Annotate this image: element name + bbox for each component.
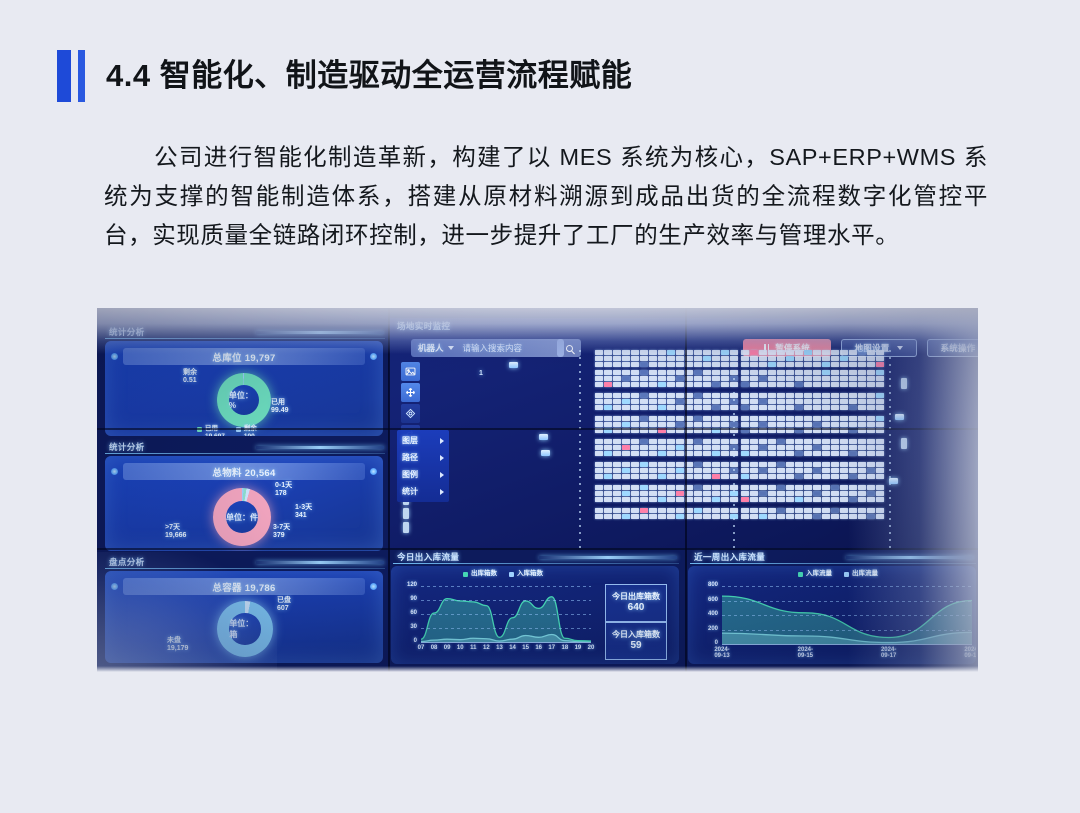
rack-cell <box>721 422 729 427</box>
card-stocktake: 总容器 19,786 单位：箱 已盘 607 未盘 19,179 <box>105 571 383 663</box>
aisle-dot <box>733 518 735 520</box>
map-context-menu: 图层 路径 图例 统计 <box>397 430 449 502</box>
rack-cell <box>649 451 657 456</box>
agv-marker[interactable] <box>539 434 548 440</box>
rack-cell <box>667 356 675 361</box>
rack-cell <box>703 350 711 355</box>
rack-cell <box>703 399 711 404</box>
rack-cell <box>712 474 720 479</box>
rack-cell <box>721 376 729 381</box>
rack-cell <box>676 474 684 479</box>
rack-cell <box>649 362 657 367</box>
aisle-dots <box>579 350 581 548</box>
y-tick-label: 60 <box>393 610 417 616</box>
rack-cell <box>849 370 857 375</box>
chevron-right-icon <box>440 438 444 444</box>
rack-cell <box>721 445 729 450</box>
donut-label-uncounted: 未盘 19,179 <box>167 637 188 653</box>
panel-title-material: 统计分析 <box>109 441 145 453</box>
aisle-dot <box>733 371 735 373</box>
rack-cell <box>849 399 857 404</box>
rack-cell <box>631 462 639 467</box>
rack-cell <box>595 416 603 421</box>
rack-cell <box>640 514 648 519</box>
image-icon[interactable] <box>401 362 420 381</box>
rack-cell <box>759 445 767 450</box>
rack-cell <box>831 350 839 355</box>
rack-cell <box>795 405 803 410</box>
rack-cell <box>741 362 749 367</box>
target-icon[interactable] <box>401 404 420 423</box>
rack-cell <box>813 468 821 473</box>
donut-stocktake: 单位：箱 <box>217 601 273 657</box>
donut-label-1-3day: 1-3天 341 <box>295 504 312 520</box>
rack-cell <box>667 445 675 450</box>
rack-cell <box>741 382 749 387</box>
rack-cell <box>777 497 785 502</box>
rack-cell <box>822 356 830 361</box>
rack-cell <box>876 497 884 502</box>
rack-cell <box>876 508 884 513</box>
rack-cell <box>595 514 603 519</box>
rack-cell <box>786 468 794 473</box>
aisle-dot <box>733 462 735 464</box>
panel-week-flow: 近一周出入库流量 入库流量 出库流量 <box>686 551 978 666</box>
chart-legend-today: 出库箱数 入库箱数 <box>463 570 543 578</box>
rack-cell <box>813 350 821 355</box>
rack-cell <box>822 445 830 450</box>
rack-cell <box>649 474 657 479</box>
aisle-dot <box>889 532 891 534</box>
rack-cell <box>595 393 603 398</box>
rack-cell <box>849 445 857 450</box>
rack-cell <box>858 362 866 367</box>
rack-cell <box>768 497 776 502</box>
rack-cell <box>604 399 612 404</box>
rack-cell <box>649 399 657 404</box>
rack-cell <box>831 514 839 519</box>
rack-cell <box>658 416 666 421</box>
rack-cell <box>795 485 803 490</box>
rack-cell <box>595 485 603 490</box>
rack-cell <box>876 439 884 444</box>
rack-cell <box>795 399 803 404</box>
rack-cell <box>712 393 720 398</box>
rack-cell <box>777 416 785 421</box>
rack-cell <box>604 462 612 467</box>
rack-cell <box>786 439 794 444</box>
rack-cell <box>822 439 830 444</box>
agv-marker[interactable] <box>509 362 518 368</box>
rack-cell <box>658 376 666 381</box>
rack-cell <box>741 485 749 490</box>
x-axis-line <box>421 642 591 643</box>
rack-cell <box>777 451 785 456</box>
prev-arrow-icon[interactable] <box>111 353 118 360</box>
aisle-dot <box>889 350 891 352</box>
rack-cell <box>768 405 776 410</box>
gridline <box>722 615 972 616</box>
prev-arrow-icon[interactable] <box>111 583 118 590</box>
rack-cell <box>777 405 785 410</box>
menu-item-paths[interactable]: 路径 <box>397 449 449 466</box>
x-tick-label: 2024-09-15 <box>793 647 817 659</box>
rack-cell <box>768 382 776 387</box>
rack-cell <box>703 376 711 381</box>
rack-cell <box>867 508 875 513</box>
rack-cell <box>840 468 848 473</box>
rack-cell <box>759 514 767 519</box>
rack-cell <box>703 445 711 450</box>
title-deco <box>539 556 677 559</box>
rack-cell <box>741 370 749 375</box>
station-marker[interactable] <box>403 508 409 519</box>
aisle-dot <box>579 378 581 380</box>
rack-cell <box>831 508 839 513</box>
rack-cell <box>768 485 776 490</box>
rack-cell <box>777 439 785 444</box>
rack-cell <box>622 416 630 421</box>
rack-cell <box>721 405 729 410</box>
rack-cell <box>867 491 875 496</box>
rack-cell <box>795 451 803 456</box>
rack-cell <box>849 382 857 387</box>
rack-cell <box>721 399 729 404</box>
rack-cell <box>768 376 776 381</box>
rack-cell <box>759 491 767 496</box>
rack-cell <box>712 445 720 450</box>
aisle-dot <box>579 406 581 408</box>
rack-cell <box>676 376 684 381</box>
agv-marker[interactable] <box>895 414 904 420</box>
aisle-dot <box>579 532 581 534</box>
rack-cell <box>876 393 884 398</box>
legend-swatch-icon <box>463 572 468 577</box>
rack-cell <box>849 485 857 490</box>
rack-cell <box>631 508 639 513</box>
rack-cell <box>804 399 812 404</box>
rack-cell <box>622 497 630 502</box>
y-tick-label: 400 <box>690 611 718 617</box>
chevron-right-icon <box>440 472 444 478</box>
aisle-dot <box>579 455 581 457</box>
rack-cell <box>595 468 603 473</box>
rack-cell <box>595 422 603 427</box>
rack-cell <box>667 468 675 473</box>
rack-cell <box>858 393 866 398</box>
donut-label-0-1day: 0-1天 178 <box>275 482 292 498</box>
rack-cell <box>676 485 684 490</box>
rack-cell <box>622 451 630 456</box>
rack-cell <box>703 356 711 361</box>
title-rule <box>105 453 385 454</box>
rack-cell <box>658 474 666 479</box>
rack-cell <box>613 508 621 513</box>
rack-cell <box>822 370 830 375</box>
rack-cell <box>840 416 848 421</box>
rack-cell <box>658 370 666 375</box>
aisle-dot <box>579 469 581 471</box>
aisle-dot <box>889 441 891 443</box>
rack-cell <box>667 491 675 496</box>
rack-cell <box>867 485 875 490</box>
donut-label-3-7day: 3-7天 379 <box>273 524 290 540</box>
rack-cell <box>777 445 785 450</box>
rack-cell <box>876 462 884 467</box>
rack-cell <box>667 439 675 444</box>
rack-cell <box>831 439 839 444</box>
menu-item-layers[interactable]: 图层 <box>397 432 449 449</box>
rack-cell <box>867 514 875 519</box>
rack-cell <box>649 468 657 473</box>
rack-cell <box>858 356 866 361</box>
aisle-dot <box>733 532 735 534</box>
rack-cell <box>867 356 875 361</box>
rack-cell <box>876 382 884 387</box>
aisle-dot <box>733 434 735 436</box>
menu-item-legend[interactable]: 图例 <box>397 466 449 483</box>
rack-cell <box>777 362 785 367</box>
video-wall-seam <box>388 308 390 672</box>
rack-cell <box>777 399 785 404</box>
aisle-dot <box>579 462 581 464</box>
rack-cell <box>750 382 758 387</box>
rack-cell <box>822 376 830 381</box>
gridline <box>421 628 591 629</box>
aisle-dot <box>889 448 891 450</box>
rack-cell <box>712 382 720 387</box>
rack-cell <box>703 393 711 398</box>
rack-cell <box>804 462 812 467</box>
next-arrow-icon[interactable] <box>370 583 377 590</box>
rack-cell <box>813 399 821 404</box>
rack-cell <box>858 474 866 479</box>
rack-cell <box>595 370 603 375</box>
aisle-dot <box>579 399 581 401</box>
rack-cell <box>703 362 711 367</box>
rack-cell <box>622 514 630 519</box>
station-marker[interactable] <box>403 522 409 533</box>
rack-cell <box>631 399 639 404</box>
aisle-dot <box>889 357 891 359</box>
rack-cell <box>667 451 675 456</box>
today-flow-chart: 出库箱数 入库箱数 030609012007080910111213141516… <box>391 570 597 660</box>
agv-marker[interactable] <box>541 450 550 456</box>
rack-cell <box>831 491 839 496</box>
rack-cell <box>631 439 639 444</box>
video-wall-seam <box>97 428 978 430</box>
rack-cell <box>867 445 875 450</box>
rack-cell <box>831 370 839 375</box>
aisle-dot <box>579 483 581 485</box>
aisle-dot <box>889 518 891 520</box>
rack-cell <box>676 356 684 361</box>
fullscreen-icon[interactable] <box>401 383 420 402</box>
rack-cell <box>840 474 848 479</box>
rack-cell <box>640 393 648 398</box>
rack-cell <box>649 422 657 427</box>
rack-cell <box>613 376 621 381</box>
rack-cell <box>667 405 675 410</box>
rack-cell <box>831 382 839 387</box>
rack-cell <box>721 508 729 513</box>
rack-cell <box>721 356 729 361</box>
rack-cell <box>858 485 866 490</box>
legend-storage: 已用 19,697 剩余 100 <box>197 425 257 436</box>
rack-block <box>595 485 738 502</box>
rack-cell <box>795 393 803 398</box>
rack-cell <box>750 508 758 513</box>
rack-cell <box>658 393 666 398</box>
aisle-dot <box>889 406 891 408</box>
rack-cell <box>750 399 758 404</box>
rack-cell <box>867 474 875 479</box>
rack-cell <box>676 405 684 410</box>
aisle-dot <box>579 371 581 373</box>
panel-title-storage: 统计分析 <box>109 326 145 338</box>
rack-cell <box>867 393 875 398</box>
rack-cell <box>768 462 776 467</box>
rack-cell <box>595 382 603 387</box>
rack-cell <box>777 382 785 387</box>
rack-cell <box>840 445 848 450</box>
panel-stocktake-stats: 盘点分析 总容器 19,786 单位：箱 已盘 607 未盘 <box>101 556 387 666</box>
aisle-dot <box>889 364 891 366</box>
rack-cell <box>741 422 749 427</box>
donut-center-label: 单位：件 <box>226 501 259 534</box>
rack-cell <box>721 393 729 398</box>
x-tick-label: 2024-09-17 <box>877 647 901 659</box>
rack-cell <box>622 508 630 513</box>
station-marker[interactable] <box>901 378 907 389</box>
rack-cell <box>640 399 648 404</box>
rack-cell <box>703 439 711 444</box>
rack-cell <box>640 474 648 479</box>
rack-cell <box>822 491 830 496</box>
rack-cell <box>795 350 803 355</box>
rack-cell <box>604 370 612 375</box>
rack-cell <box>840 370 848 375</box>
rack-cell <box>813 445 821 450</box>
aisle-dot <box>733 511 735 513</box>
rack-cell <box>750 405 758 410</box>
rack-cell <box>640 350 648 355</box>
rack-cell <box>786 405 794 410</box>
rack-cell <box>759 399 767 404</box>
aisle-dot <box>889 420 891 422</box>
rack-cell <box>622 491 630 496</box>
rack-cell <box>804 491 812 496</box>
rack-cell <box>658 362 666 367</box>
rack-cell <box>649 350 657 355</box>
rack-cell <box>858 514 866 519</box>
rack-cell <box>831 497 839 502</box>
rack-cell <box>712 491 720 496</box>
aisle-dot <box>733 420 735 422</box>
menu-item-statistics[interactable]: 统计 <box>397 483 449 500</box>
aisle-dot <box>733 448 735 450</box>
rack-cell <box>831 485 839 490</box>
rack-cell <box>694 370 702 375</box>
rack-cell <box>622 468 630 473</box>
aisle-dot <box>889 455 891 457</box>
next-arrow-icon[interactable] <box>370 468 377 475</box>
rack-cell <box>595 405 603 410</box>
rack-cell <box>667 514 675 519</box>
rack-cell <box>631 376 639 381</box>
aisle-dot <box>733 483 735 485</box>
rack-cell <box>768 439 776 444</box>
rack-cell <box>876 370 884 375</box>
rack-cell <box>741 462 749 467</box>
warehouse-map-canvas[interactable]: 1 <box>389 318 975 548</box>
aisle-dot <box>889 378 891 380</box>
rack-cell <box>813 393 821 398</box>
aisle-dot <box>733 413 735 415</box>
rack-cell <box>613 468 621 473</box>
rack-cell <box>741 468 749 473</box>
station-marker[interactable] <box>901 438 907 449</box>
aisle-dot <box>889 371 891 373</box>
rack-block <box>595 439 738 456</box>
rack-cell <box>631 485 639 490</box>
aisle-dot <box>579 518 581 520</box>
rack-cell <box>831 451 839 456</box>
rack-cell <box>712 508 720 513</box>
rack-cell <box>768 508 776 513</box>
week-flow-chart: 入库流量 出库流量 02004006008002024-09-132024-09… <box>688 570 976 662</box>
rack-cell <box>777 485 785 490</box>
next-arrow-icon[interactable] <box>370 353 377 360</box>
rack-cell <box>795 514 803 519</box>
rack-cell <box>604 382 612 387</box>
rack-cell <box>613 393 621 398</box>
rack-cell <box>658 356 666 361</box>
rack-cell <box>676 508 684 513</box>
rack-cell <box>640 508 648 513</box>
rack-cell <box>759 362 767 367</box>
rack-cell <box>840 491 848 496</box>
rack-cell <box>613 497 621 502</box>
rack-cell <box>658 445 666 450</box>
rack-cell <box>786 382 794 387</box>
rack-block <box>741 350 884 367</box>
y-tick-label: 600 <box>690 597 718 603</box>
rack-cell <box>622 362 630 367</box>
rack-cell <box>822 497 830 502</box>
rack-cell <box>667 508 675 513</box>
aisle-dot <box>579 357 581 359</box>
card-title-storage: 总库位 19,797 <box>123 348 365 365</box>
prev-arrow-icon[interactable] <box>111 468 118 475</box>
aisle-dot <box>579 420 581 422</box>
rack-cell <box>813 376 821 381</box>
rack-cell <box>741 451 749 456</box>
rack-cell <box>867 462 875 467</box>
rack-cell <box>867 399 875 404</box>
rack-cell <box>676 399 684 404</box>
rack-cell <box>613 485 621 490</box>
rack-cell <box>858 376 866 381</box>
x-tick-label: 2024-09-19 <box>960 647 976 659</box>
rack-cell <box>640 370 648 375</box>
agv-marker[interactable] <box>889 478 898 484</box>
rack-cell <box>712 370 720 375</box>
rack-cell <box>804 468 812 473</box>
rack-cell <box>604 376 612 381</box>
rack-cell <box>840 376 848 381</box>
aisle-dot <box>889 504 891 506</box>
